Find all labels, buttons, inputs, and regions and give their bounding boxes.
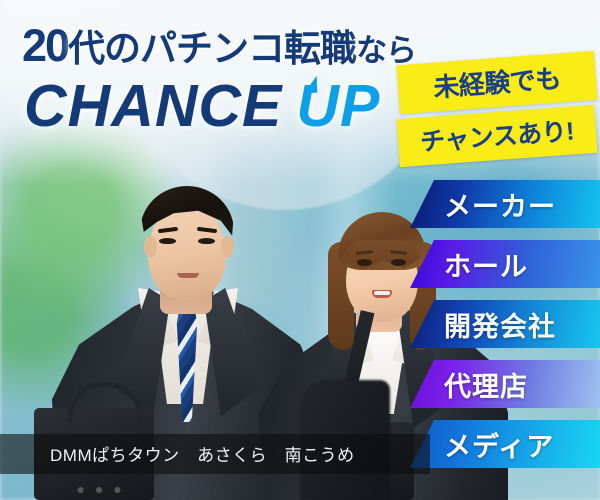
category-bar-list: メーカー ホール 開発会社 代理店 メディア bbox=[410, 180, 600, 480]
category-label-hall: ホール bbox=[444, 245, 528, 284]
man-mouth bbox=[177, 273, 199, 278]
woman-eye-right bbox=[391, 259, 406, 266]
badge-line-1: 未経験でも bbox=[396, 51, 597, 114]
man-ear-right bbox=[221, 236, 234, 258]
headline-middle: 代のパチンコ転職 bbox=[68, 28, 356, 69]
category-label-maker: メーカー bbox=[444, 185, 556, 224]
bottom-caption: DMMぱちタウン あさくら 南こうめ bbox=[0, 434, 430, 474]
logo-word-chance: CHANCE bbox=[24, 73, 282, 139]
man-eye-left bbox=[159, 238, 176, 244]
category-bar-media[interactable]: メディア bbox=[410, 420, 600, 468]
man-briefcase-studs bbox=[76, 486, 122, 494]
headline-text: 20代のパチンコ転職なら bbox=[22, 18, 416, 72]
category-bar-hall[interactable]: ホール bbox=[410, 240, 600, 288]
woman-eye-left bbox=[357, 259, 372, 266]
woman-mouth bbox=[372, 290, 392, 298]
category-bar-maker[interactable]: メーカー bbox=[410, 180, 600, 228]
logo-chance-up: CHANCEUP bbox=[24, 72, 380, 140]
category-label-developer: 開発会社 bbox=[444, 305, 556, 344]
category-bar-developer[interactable]: 開発会社 bbox=[410, 300, 600, 348]
banner-ad[interactable]: 20代のパチンコ転職なら CHANCEUP 未経験でも チャンスあり! メーカー… bbox=[0, 0, 600, 500]
headline-number: 20 bbox=[22, 20, 68, 71]
category-bar-agency[interactable]: 代理店 bbox=[410, 360, 600, 408]
category-label-agency: 代理店 bbox=[444, 365, 528, 404]
man-ear-left bbox=[144, 236, 157, 258]
promo-badge: 未経験でも チャンスあり! bbox=[398, 58, 596, 160]
category-label-media: メディア bbox=[444, 425, 554, 464]
badge-line-2: チャンスあり! bbox=[397, 105, 598, 167]
man-eye-right bbox=[198, 238, 215, 244]
up-arrow-icon bbox=[304, 76, 318, 93]
